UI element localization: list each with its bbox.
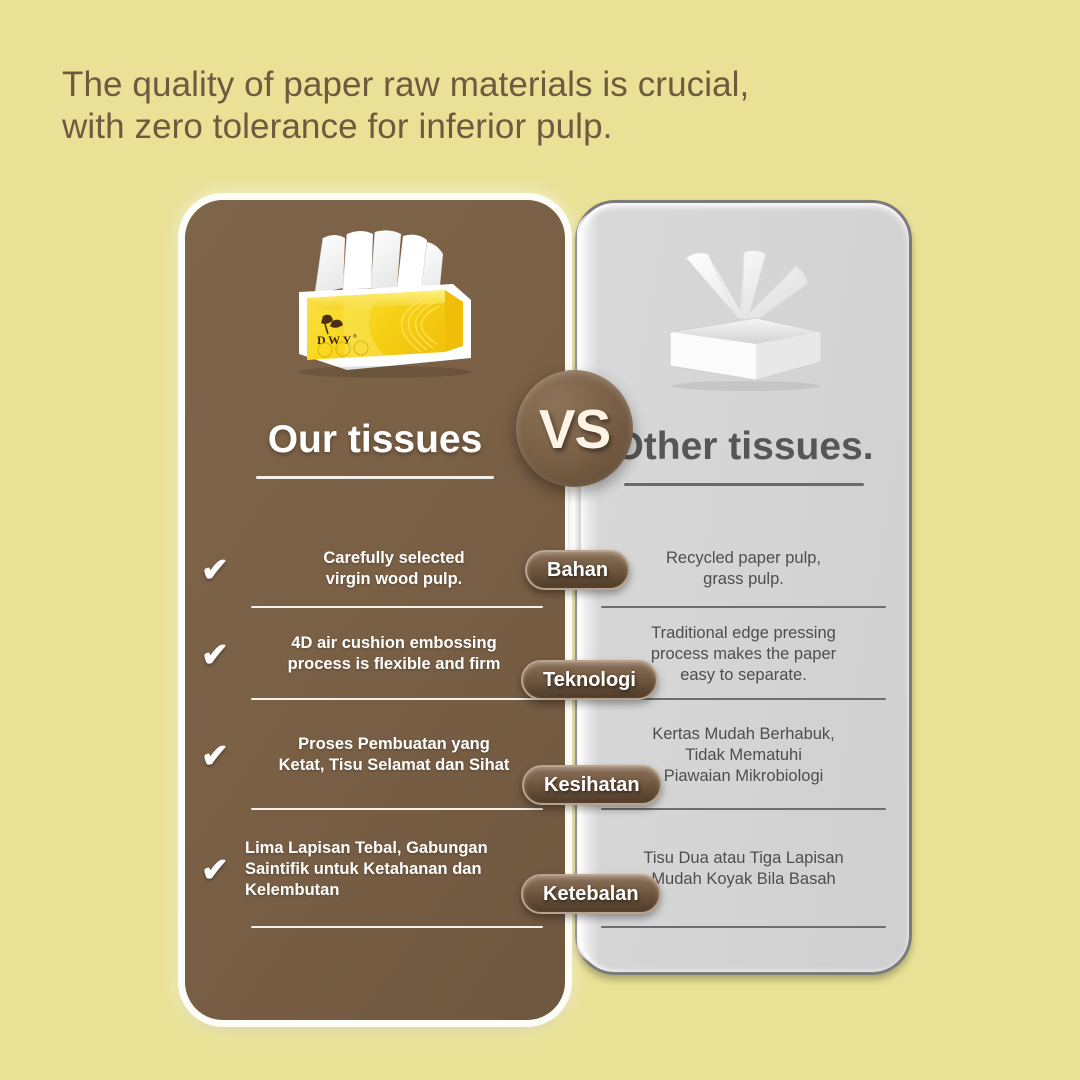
vs-badge: VS (516, 370, 633, 487)
our-row-text: 4D air cushion embossingprocess is flexi… (245, 633, 565, 675)
vs-badge-label: VS (539, 397, 610, 461)
category-pill-label: Bahan (547, 559, 608, 582)
table-row: ✔ Proses Pembuatan yangKetat, Tisu Selam… (185, 700, 565, 810)
our-row-text: Proses Pembuatan yangKetat, Tisu Selamat… (245, 734, 565, 776)
category-pill-ketebalan[interactable]: Ketebalan (521, 874, 661, 914)
dwy-tissue-box-image: DWY ® (285, 222, 485, 387)
category-pill-teknologi[interactable]: Teknologi (521, 660, 658, 700)
our-row-text: Lima Lapisan Tebal, GabunganSaintifik un… (245, 838, 565, 901)
table-row: ✔ Carefully selectedvirgin wood pulp. (185, 530, 565, 608)
table-row: ✔ 4D air cushion embossingprocess is fle… (185, 608, 565, 700)
row-divider (251, 926, 543, 928)
other-heading-underline (624, 483, 864, 486)
check-icon: ✔ (185, 739, 245, 772)
comparison-stage: DWY ® Other tissues. Our tissues VS Recy… (0, 0, 1080, 1080)
table-row: ✔ Lima Lapisan Tebal, GabunganSaintifik … (185, 810, 565, 928)
our-tissues-heading: Our tissues (185, 418, 565, 479)
category-pill-label: Teknologi (543, 669, 636, 692)
check-icon: ✔ (185, 853, 245, 886)
category-pill-bahan[interactable]: Bahan (525, 550, 630, 590)
our-row-text: Carefully selectedvirgin wood pulp. (245, 548, 565, 590)
our-heading-underline (256, 476, 494, 479)
category-pill-kesihatan[interactable]: Kesihatan (522, 765, 662, 805)
check-icon: ✔ (185, 553, 245, 586)
svg-text:®: ® (353, 333, 357, 340)
check-icon: ✔ (185, 638, 245, 671)
our-tissues-heading-text: Our tissues (268, 418, 483, 461)
row-divider (601, 926, 886, 928)
other-tissues-heading-text: Other tissues. (613, 425, 873, 468)
white-tissue-box-image (658, 240, 833, 392)
other-tissues-row-list: Recycled paper pulp,grass pulp. Traditio… (575, 530, 912, 928)
our-tissues-row-list: ✔ Carefully selectedvirgin wood pulp. ✔ … (185, 530, 565, 928)
category-pill-label: Ketebalan (543, 883, 639, 906)
category-pill-label: Kesihatan (544, 774, 640, 797)
